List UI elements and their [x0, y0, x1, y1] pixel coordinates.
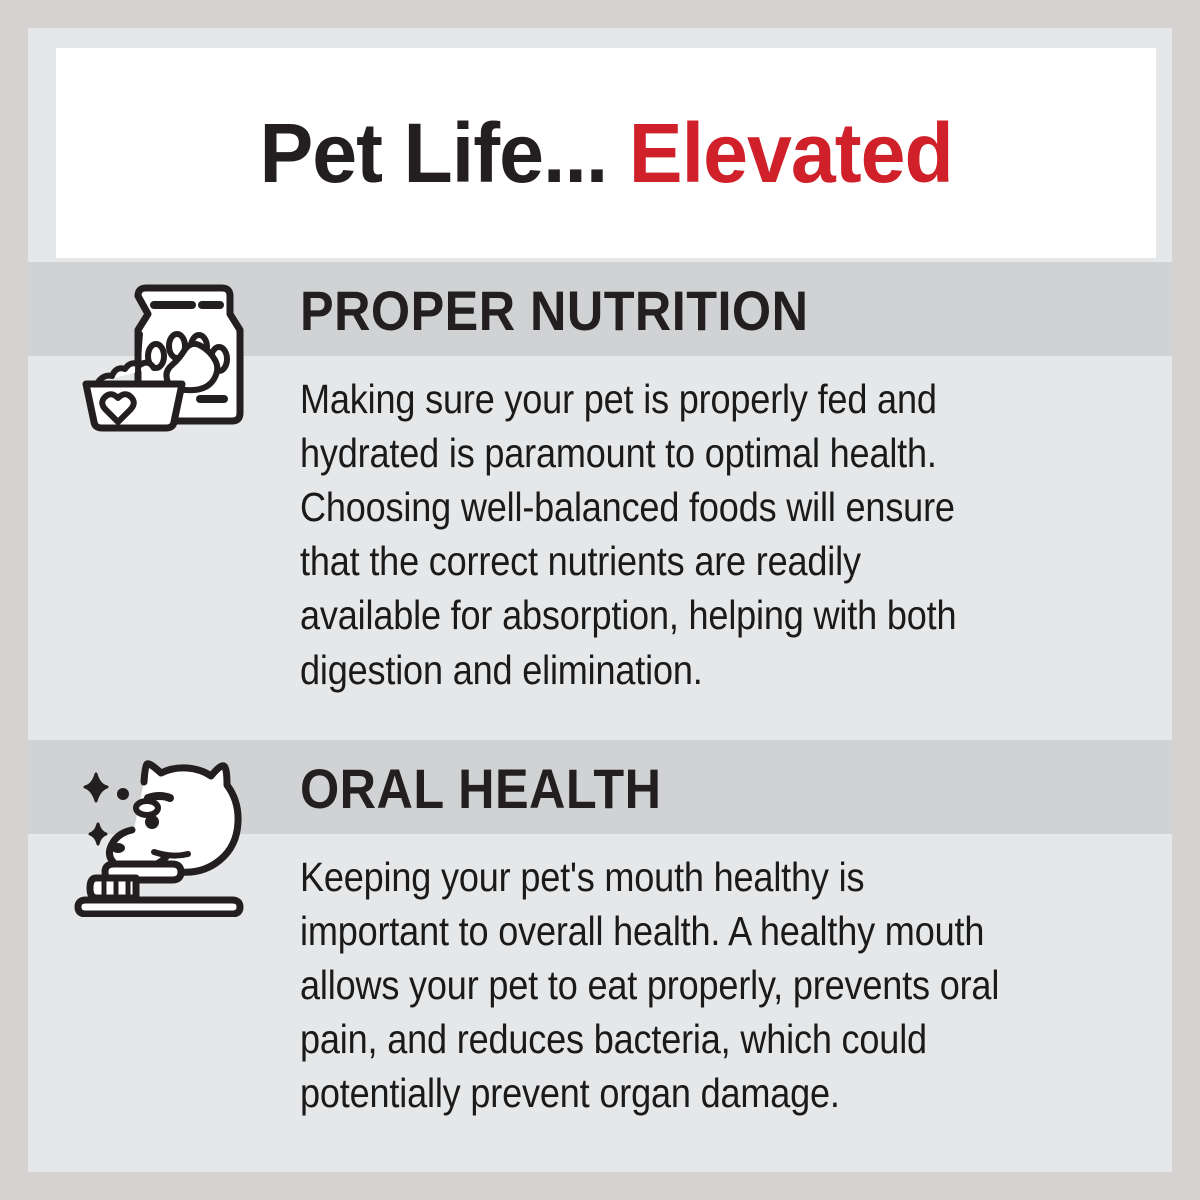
brand-header-box: Pet Life... Elevated: [56, 48, 1156, 258]
content-area: Pet Life... Elevated: [28, 28, 1172, 1172]
brand-title-primary: Pet Life...: [259, 106, 607, 200]
section-body-oral-health: Keeping your pet's mouth healthy is impo…: [300, 850, 1004, 1121]
dog-toothbrush-icon: [74, 752, 254, 917]
section-heading-proper-nutrition: PROPER NUTRITION: [300, 274, 808, 346]
infographic-poster: Pet Life... Elevated: [0, 0, 1200, 1200]
brand-title: Pet Life... Elevated: [259, 111, 952, 195]
brand-title-accent: Elevated: [629, 106, 953, 200]
pet-food-bag-and-bowl-icon: [74, 274, 254, 439]
section-body-proper-nutrition: Making sure your pet is properly fed and…: [300, 372, 1004, 697]
section-heading-oral-health: ORAL HEALTH: [300, 752, 661, 824]
